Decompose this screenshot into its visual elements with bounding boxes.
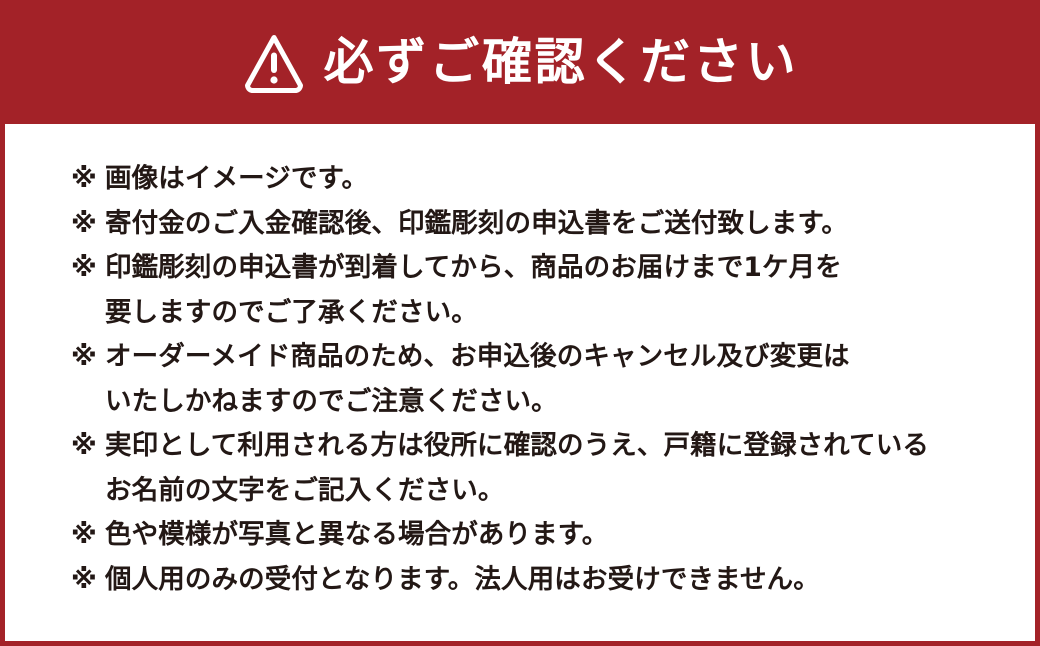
notice-item-text: 印鑑彫刻の申込書が到着してから、商品のお届けまで1ケ月を 要しますのでご了承くだ… (105, 252, 842, 328)
notice-list-item: ※色や模様が写真と異なる場合があります。 (71, 513, 1015, 558)
notice-panel: 必ずご確認ください ※画像はイメージです。 ※寄付金のご入金確認後、印鑑彫刻の申… (0, 0, 1040, 646)
notice-list-item: ※寄付金のご入金確認後、印鑑彫刻の申込書をご送付致します。 (71, 202, 1015, 247)
notice-item-text: 画像はイメージです。 (105, 163, 368, 194)
notice-list-item: ※印鑑彫刻の申込書が到着してから、商品のお届けまで1ケ月を 要しますのでご了承く… (71, 246, 1015, 335)
bullet-mark: ※ (71, 558, 97, 603)
notice-item-text: 実印として利用される方は役所に確認のうえ、戸籍に登録されている お名前の文字をご… (105, 430, 929, 506)
notice-list-item: ※個人用のみの受付となります。法人用はお受けできません。 (71, 558, 1015, 603)
notice-item-text: 個人用のみの受付となります。法人用はお受けできません。 (105, 564, 820, 595)
notice-list-item: ※実印として利用される方は役所に確認のうえ、戸籍に登録されている お名前の文字を… (71, 424, 1015, 513)
warning-triangle-icon (242, 33, 306, 95)
notice-item-text: 色や模様が写真と異なる場合があります。 (105, 519, 608, 550)
bullet-mark: ※ (71, 513, 97, 558)
notice-header: 必ずご確認ください (0, 0, 1040, 124)
bullet-mark: ※ (71, 335, 97, 380)
bullet-mark: ※ (71, 424, 97, 469)
notice-item-text: オーダーメイド商品のため、お申込後のキャンセル及び変更は いたしかねますのでご注… (105, 341, 850, 417)
page-title: 必ずご確認ください (324, 37, 799, 87)
notice-list: ※画像はイメージです。 ※寄付金のご入金確認後、印鑑彫刻の申込書をご送付致します… (5, 124, 1035, 641)
bullet-mark: ※ (71, 202, 97, 247)
notice-list-item: ※オーダーメイド商品のため、お申込後のキャンセル及び変更は いたしかねますのでご… (71, 335, 1015, 424)
bullet-mark: ※ (71, 246, 97, 291)
notice-item-text: 寄付金のご入金確認後、印鑑彫刻の申込書をご送付致します。 (105, 208, 848, 239)
bullet-mark: ※ (71, 157, 97, 202)
notice-list-item: ※画像はイメージです。 (71, 157, 1015, 202)
